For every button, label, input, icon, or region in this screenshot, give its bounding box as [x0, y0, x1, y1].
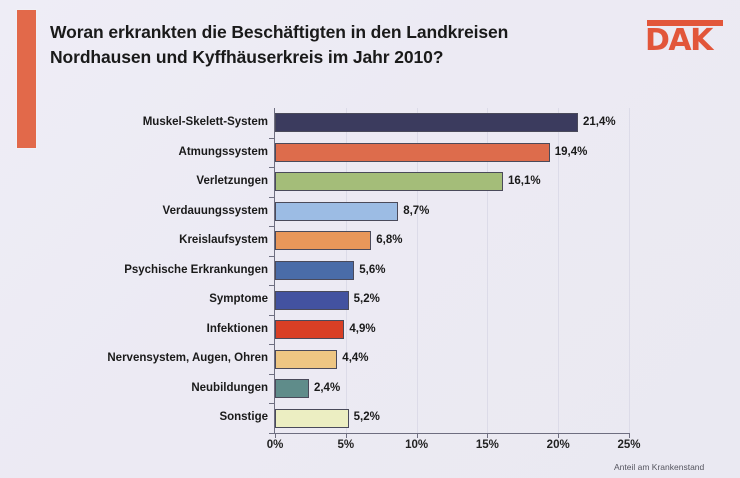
x-axis-label: 10% [405, 439, 428, 451]
category-label: Kreislaufsystem [179, 226, 268, 256]
bar-value-label: 5,2% [354, 403, 380, 433]
x-axis-label: 0% [267, 439, 284, 451]
chart-row: Muskel-Skelett-System21,4% [0, 108, 740, 138]
bar-value-label: 21,4% [583, 108, 616, 138]
chart-row: Sonstige5,2% [0, 403, 740, 433]
chart-row: Infektionen4,9% [0, 315, 740, 345]
category-label: Verdauungssystem [163, 197, 268, 227]
chart-row: Verletzungen16,1% [0, 167, 740, 197]
bar-value-label: 5,2% [354, 285, 380, 315]
x-axis-label: 25% [617, 439, 640, 451]
slide-canvas: Woran erkrankten die Beschäftigten in de… [0, 0, 740, 478]
bar [275, 379, 309, 398]
bar-value-label: 16,1% [508, 167, 541, 197]
bar [275, 231, 371, 250]
chart-row: Symptome5,2% [0, 285, 740, 315]
chart-row: Verdauungssystem8,7% [0, 197, 740, 227]
chart-row: Atmungssystem19,4% [0, 138, 740, 168]
bar [275, 261, 354, 280]
chart-row: Neubildungen2,4% [0, 374, 740, 404]
category-label: Muskel-Skelett-System [143, 108, 268, 138]
bar-value-label: 4,9% [349, 315, 375, 345]
bar [275, 320, 344, 339]
x-axis-label: 15% [476, 439, 499, 451]
bar-chart: 0%5%10%15%20%25%Muskel-Skelett-System21,… [0, 0, 740, 478]
bar [275, 202, 398, 221]
x-axis-label: 5% [337, 439, 354, 451]
bar [275, 350, 337, 369]
category-label: Psychische Erkrankungen [124, 256, 268, 286]
chart-row: Psychische Erkrankungen5,6% [0, 256, 740, 286]
chart-footnote: Anteil am Krankenstand [614, 462, 704, 472]
category-label: Neubildungen [191, 374, 268, 404]
category-label: Verletzungen [196, 167, 268, 197]
bar [275, 172, 503, 191]
x-axis-line [274, 433, 630, 434]
bar-value-label: 6,8% [376, 226, 402, 256]
y-axis-tick [269, 433, 274, 434]
bar-value-label: 19,4% [555, 138, 588, 168]
bar [275, 409, 349, 428]
bar [275, 143, 550, 162]
x-axis-label: 20% [547, 439, 570, 451]
chart-row: Nervensystem, Augen, Ohren4,4% [0, 344, 740, 374]
bar [275, 113, 578, 132]
category-label: Nervensystem, Augen, Ohren [107, 344, 268, 374]
category-label: Sonstige [219, 403, 268, 433]
category-label: Infektionen [207, 315, 268, 345]
bar-value-label: 8,7% [403, 197, 429, 227]
bar [275, 291, 349, 310]
bar-value-label: 4,4% [342, 344, 368, 374]
bar-value-label: 5,6% [359, 256, 385, 286]
category-label: Symptome [209, 285, 268, 315]
chart-row: Kreislaufsystem6,8% [0, 226, 740, 256]
category-label: Atmungssystem [179, 138, 268, 168]
bar-value-label: 2,4% [314, 374, 340, 404]
